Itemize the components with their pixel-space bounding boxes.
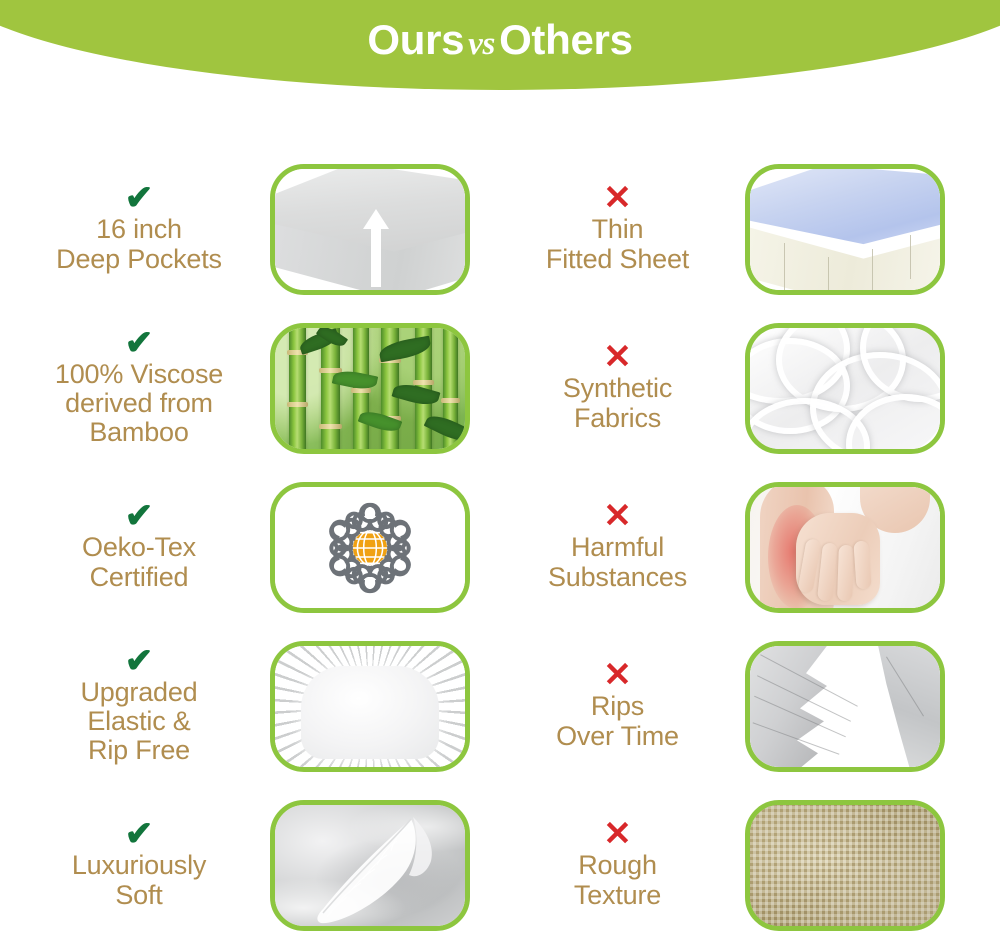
- label-line: 16 inch: [10, 215, 268, 244]
- ours-label-cell: ✔ 100% Viscose derived from Bamboo: [10, 309, 268, 468]
- label-line: Soft: [10, 881, 268, 910]
- others-image-cell: [745, 786, 945, 944]
- elastic-fitted-sheet-image: [270, 641, 470, 772]
- comparison-row: ✔ Luxuriously Soft: [0, 786, 1000, 944]
- label-line: Oeko-Tex: [10, 533, 268, 562]
- others-image-cell: [745, 627, 945, 786]
- label-line: Over Time: [490, 722, 745, 751]
- ripped-fabric-image: [745, 641, 945, 772]
- others-label: Rough Texture: [490, 851, 745, 909]
- others-label-cell: ✕ Rips Over Time: [490, 627, 745, 786]
- label-line: Thin: [490, 215, 745, 244]
- comparison-grid: ✔ 16 inch Deep Pockets: [0, 150, 1000, 944]
- others-label: Harmful Substances: [490, 533, 745, 591]
- deep-pocket-mattress-image: [270, 164, 470, 295]
- label-line: Harmful: [490, 533, 745, 562]
- harmful-substances-image: [745, 482, 945, 613]
- ours-label: 16 inch Deep Pockets: [10, 215, 268, 273]
- title-ours: Ours: [367, 16, 464, 63]
- others-image-cell: [745, 468, 945, 627]
- ours-image-cell: [270, 786, 470, 944]
- ours-image-cell: [270, 309, 470, 468]
- others-label: Synthetic Fabrics: [490, 374, 745, 432]
- ours-label-cell: ✔ Luxuriously Soft: [10, 786, 268, 944]
- cross-icon: ✕: [490, 499, 745, 533]
- comparison-row: ✔ Oeko-Tex Certified: [0, 468, 1000, 627]
- label-line: Luxuriously: [10, 851, 268, 880]
- page-title: OursvsOthers: [0, 16, 1000, 64]
- others-label: Thin Fitted Sheet: [490, 215, 745, 273]
- ours-label: 100% Viscose derived from Bamboo: [10, 360, 268, 447]
- ours-label: Luxuriously Soft: [10, 851, 268, 909]
- ours-image-cell: [270, 150, 470, 309]
- check-icon: ✔: [10, 644, 268, 678]
- thin-fitted-sheet-image: [745, 164, 945, 295]
- oeko-tex-logo-image: [270, 482, 470, 613]
- others-label-cell: ✕ Synthetic Fabrics: [490, 309, 745, 468]
- feather-softness-image: [270, 800, 470, 931]
- label-line: Rip Free: [10, 736, 268, 765]
- ours-label-cell: ✔ 16 inch Deep Pockets: [10, 150, 268, 309]
- check-icon: ✔: [10, 181, 268, 215]
- ours-label-cell: ✔ Upgraded Elastic & Rip Free: [10, 627, 268, 786]
- label-line: Synthetic: [490, 374, 745, 403]
- ours-label: Oeko-Tex Certified: [10, 533, 268, 591]
- comparison-infographic: OursvsOthers ✔ 16 inch Deep Pockets: [0, 0, 1000, 944]
- header-banner: OursvsOthers: [0, 0, 1000, 90]
- check-icon: ✔: [10, 499, 268, 533]
- cross-icon: ✕: [490, 817, 745, 851]
- label-line: Fabrics: [490, 404, 745, 433]
- others-image-cell: [745, 150, 945, 309]
- label-line: Upgraded: [10, 678, 268, 707]
- comparison-row: ✔ 16 inch Deep Pockets: [0, 150, 1000, 309]
- synthetic-fabric-image: [745, 323, 945, 454]
- bamboo-stalks-image: [270, 323, 470, 454]
- comparison-row: ✔ Upgraded Elastic & Rip Free: [0, 627, 1000, 786]
- ours-label: Upgraded Elastic & Rip Free: [10, 678, 268, 765]
- label-line: Rough: [490, 851, 745, 880]
- title-vs: vs: [464, 26, 499, 62]
- others-label-cell: ✕ Thin Fitted Sheet: [490, 150, 745, 309]
- others-label-cell: ✕ Harmful Substances: [490, 468, 745, 627]
- label-line: Texture: [490, 881, 745, 910]
- label-line: 100% Viscose: [10, 360, 268, 389]
- globe-icon: [353, 530, 387, 564]
- cross-icon: ✕: [490, 181, 745, 215]
- label-line: Fitted Sheet: [490, 245, 745, 274]
- ours-label-cell: ✔ Oeko-Tex Certified: [10, 468, 268, 627]
- rough-texture-image: [745, 800, 945, 931]
- label-line: Rips: [490, 692, 745, 721]
- others-label-cell: ✕ Rough Texture: [490, 786, 745, 944]
- label-line: Elastic &: [10, 707, 268, 736]
- ours-image-cell: [270, 627, 470, 786]
- check-icon: ✔: [10, 817, 268, 851]
- ours-image-cell: [270, 468, 470, 627]
- others-label: Rips Over Time: [490, 692, 745, 750]
- cross-icon: ✕: [490, 658, 745, 692]
- label-line: derived from: [10, 389, 268, 418]
- oeko-tex-icon: [316, 494, 424, 602]
- check-icon: ✔: [10, 326, 268, 360]
- comparison-row: ✔ 100% Viscose derived from Bamboo: [0, 309, 1000, 468]
- label-line: Deep Pockets: [10, 245, 268, 274]
- label-line: Certified: [10, 563, 268, 592]
- label-line: Bamboo: [10, 418, 268, 447]
- others-image-cell: [745, 309, 945, 468]
- title-others: Others: [499, 16, 633, 63]
- label-line: Substances: [490, 563, 745, 592]
- cross-icon: ✕: [490, 340, 745, 374]
